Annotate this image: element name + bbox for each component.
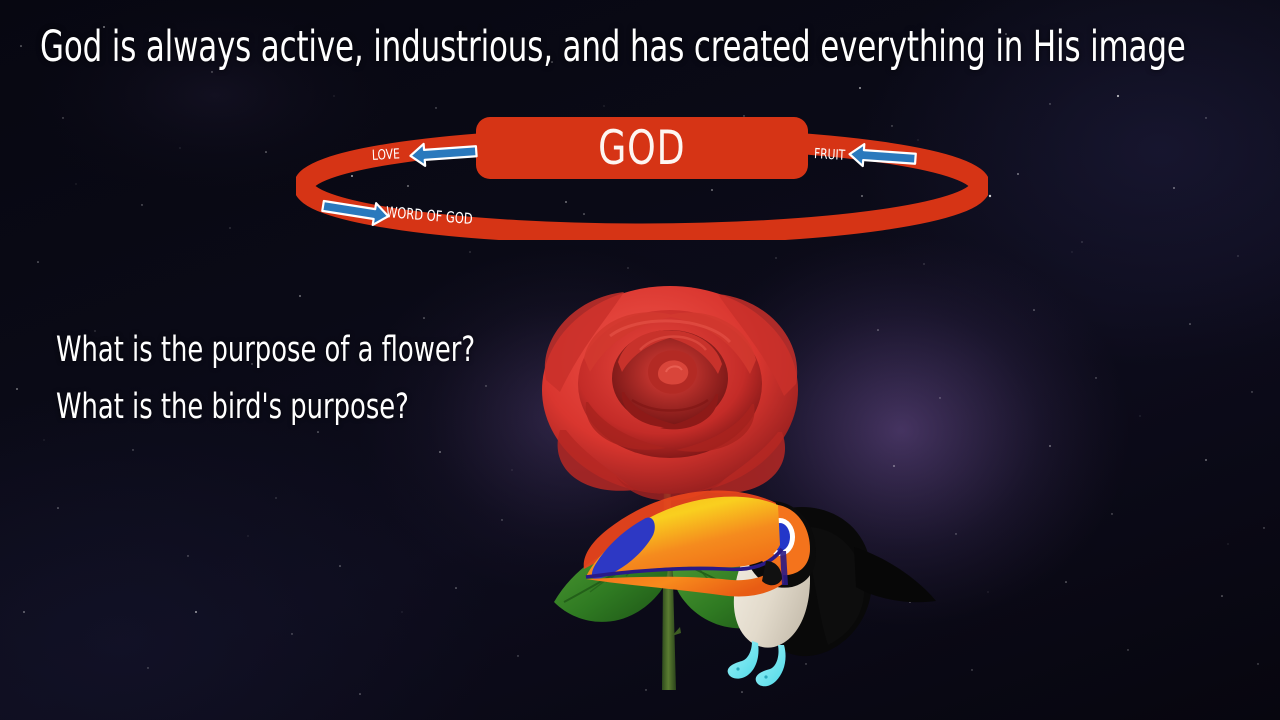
god-cycle-diagram: GOD LOVE FRUIT WORD OF GOD [296, 104, 988, 244]
toucan-legs [728, 641, 786, 686]
word-of-god-arrow-icon [321, 195, 390, 227]
slide-title: God is always active, industrious, and h… [40, 20, 1008, 74]
fruit-arrow-icon [849, 143, 916, 170]
love-arrow-icon [410, 140, 477, 167]
slide-canvas: God is always active, industrious, and h… [0, 0, 1280, 720]
toucan-image [570, 475, 940, 690]
body-line-bird: What is the bird's purpose? [56, 379, 564, 436]
ring-label-love: LOVE [372, 146, 401, 164]
body-line-flower: What is the purpose of a flower? [56, 322, 564, 379]
ring-label-fruit: FRUIT [814, 146, 846, 164]
